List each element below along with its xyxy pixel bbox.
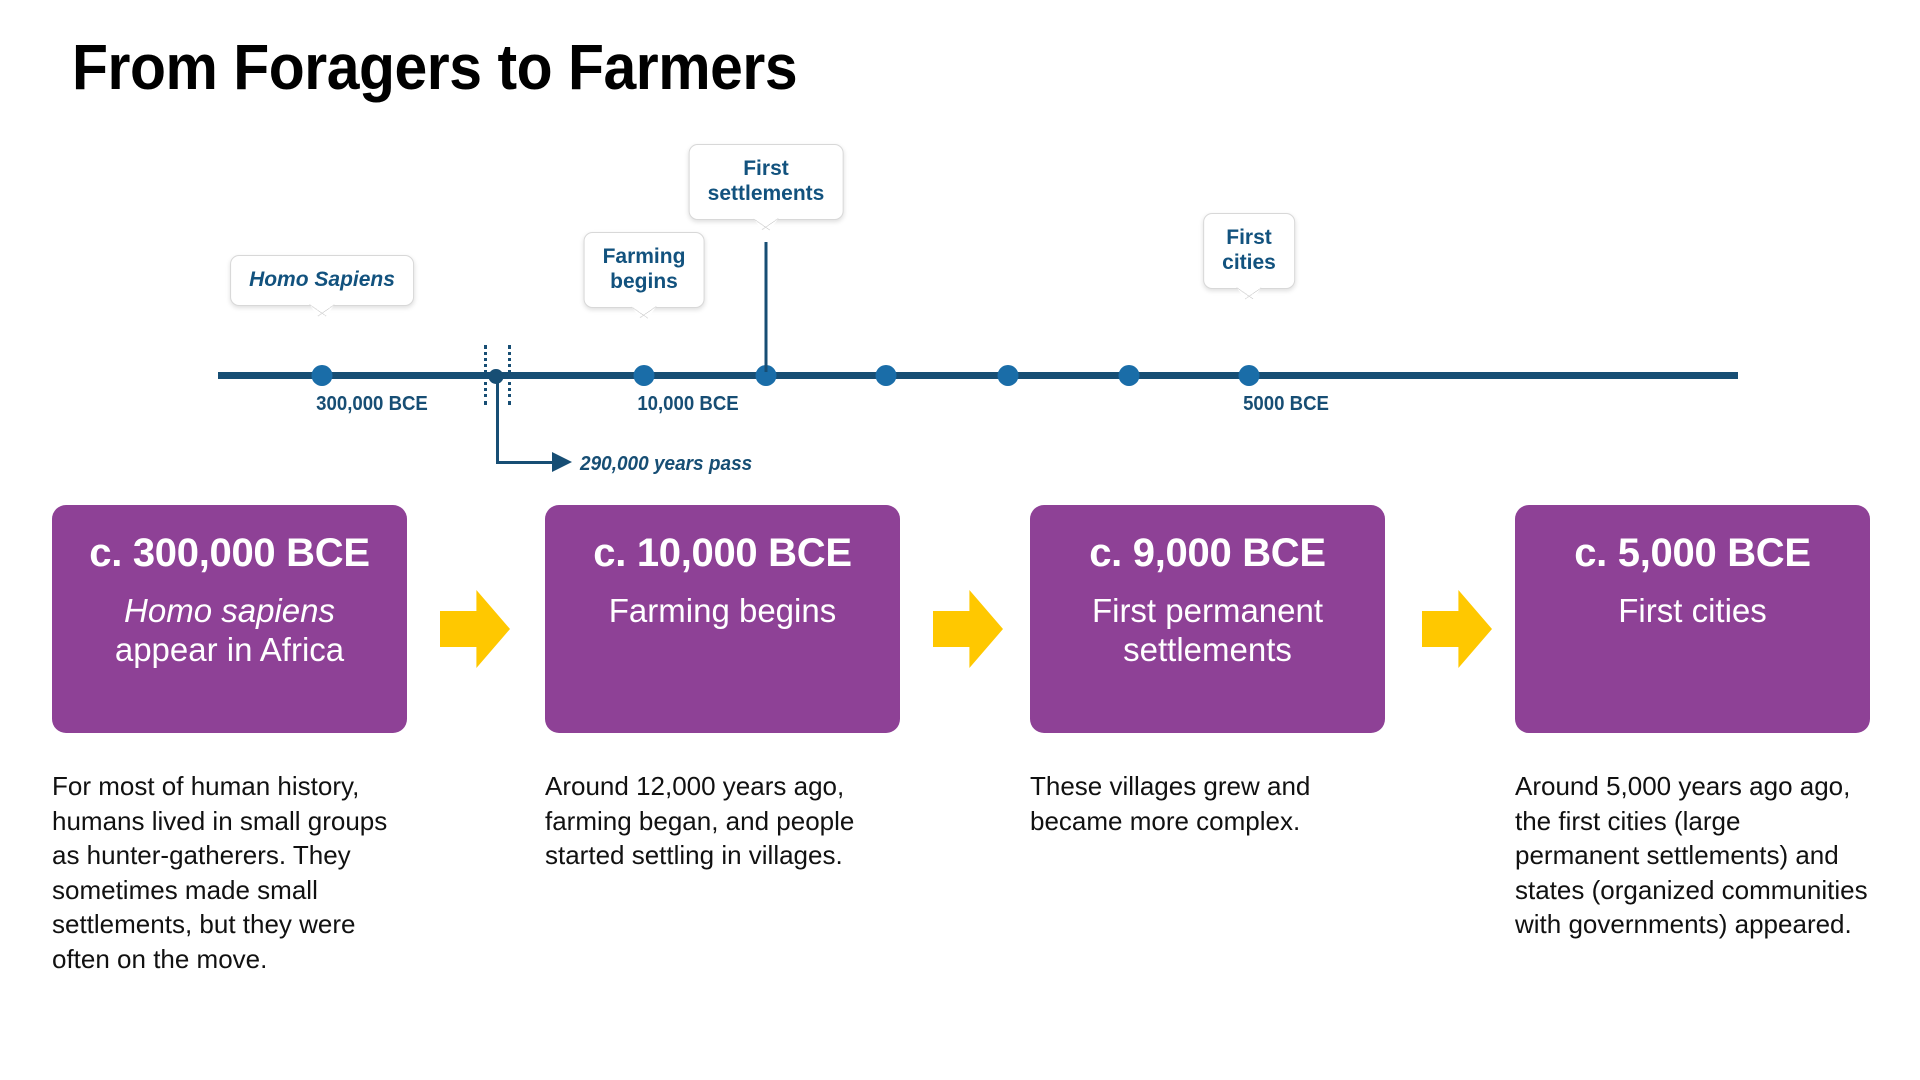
card-2-body: Around 12,000 years ago, farming began, …	[545, 769, 900, 873]
callout-first-cities-line1: First	[1222, 226, 1276, 251]
card-column-2: c. 10,000 BCE Farming begins Around 12,0…	[545, 505, 900, 873]
flow-arrow-icon-3	[1422, 590, 1492, 668]
timeline-dot-7000bce[interactable]	[998, 365, 1019, 386]
axis-label-300000-bce: 300,000 BCE	[316, 393, 428, 416]
card-4-body: Around 5,000 years ago ago, the first ci…	[1515, 769, 1870, 942]
callout-tail-icon	[631, 306, 657, 324]
callout-tail-icon	[1236, 287, 1262, 305]
callout-first-cities[interactable]: First cities	[1203, 213, 1295, 289]
callout-farming-begins-line2: begins	[603, 270, 686, 295]
card-3-body: These villages grew and became more comp…	[1030, 769, 1385, 838]
card-4-subject-rest: First cities	[1618, 592, 1767, 629]
axis-break-line-left	[484, 345, 487, 405]
callout-homo-sapiens-label: Homo Sapiens	[249, 268, 395, 291]
card-4-subject: First cities	[1618, 592, 1767, 631]
callout-farming-begins[interactable]: Farming begins	[584, 232, 705, 308]
card-column-3: c. 9,000 BCE First permanent settlements…	[1030, 505, 1385, 838]
card-1-subject: Homo sapiens appear in Africa	[115, 592, 344, 670]
timeline: 300,000 BCE 10,000 BCE 5000 BCE Homo Sap…	[0, 150, 1920, 490]
card-1-date: c. 300,000 BCE	[89, 531, 369, 576]
timeline-axis	[218, 372, 1738, 379]
years-pass-label: 290,000 years pass	[580, 453, 752, 476]
flow-arrow-icon-1	[440, 590, 510, 668]
card-3-subject-rest: First permanent settlements	[1092, 592, 1323, 668]
callout-first-cities-line2: cities	[1222, 251, 1276, 276]
card-2-subject: Farming begins	[609, 592, 836, 631]
years-pass-connector-vertical	[496, 382, 499, 464]
card-1-subject-rest: appear in Africa	[115, 631, 344, 668]
callout-tail-icon	[309, 304, 335, 322]
callout-first-settlements-line1: First	[708, 157, 825, 182]
card-2-date: c. 10,000 BCE	[593, 531, 851, 576]
page-title: From Foragers to Farmers	[72, 30, 797, 104]
callout-first-settlements-line2: settlements	[708, 182, 825, 207]
card-1-subject-italic: Homo sapiens	[115, 592, 344, 631]
card-column-1: c. 300,000 BCE Homo sapiens appear in Af…	[52, 505, 407, 976]
timeline-dot-10000bce[interactable]	[634, 365, 655, 386]
arrow-head-icon	[552, 452, 572, 472]
axis-label-10000-bce: 10,000 BCE	[637, 393, 738, 416]
card-9000-bce[interactable]: c. 9,000 BCE First permanent settlements	[1030, 505, 1385, 733]
timeline-dot-6000bce[interactable]	[1119, 365, 1140, 386]
years-pass-connector-horizontal	[496, 461, 552, 464]
card-1-body: For most of human history, humans lived …	[52, 769, 407, 976]
card-2-subject-rest: Farming begins	[609, 592, 836, 629]
timeline-dot-5000bce[interactable]	[1239, 365, 1260, 386]
card-3-subject: First permanent settlements	[1050, 592, 1365, 670]
callout-homo-sapiens[interactable]: Homo Sapiens	[230, 255, 414, 306]
callout-farming-begins-line1: Farming	[603, 245, 686, 270]
years-pass-connector	[496, 382, 552, 464]
callout-first-settlements[interactable]: First settlements	[689, 144, 844, 220]
flow-arrow-icon-2	[933, 590, 1003, 668]
card-3-date: c. 9,000 BCE	[1089, 531, 1326, 576]
card-4-date: c. 5,000 BCE	[1574, 531, 1811, 576]
timeline-dot-300000bce[interactable]	[312, 365, 333, 386]
axis-label-5000-bce: 5000 BCE	[1243, 393, 1329, 416]
card-10000-bce[interactable]: c. 10,000 BCE Farming begins	[545, 505, 900, 733]
callout-tail-icon	[753, 218, 779, 236]
card-column-4: c. 5,000 BCE First cities Around 5,000 y…	[1515, 505, 1870, 942]
card-5000-bce[interactable]: c. 5,000 BCE First cities	[1515, 505, 1870, 733]
timeline-dot-8000bce[interactable]	[876, 365, 897, 386]
card-300000-bce[interactable]: c. 300,000 BCE Homo sapiens appear in Af…	[52, 505, 407, 733]
callout-connector-line	[765, 242, 768, 372]
